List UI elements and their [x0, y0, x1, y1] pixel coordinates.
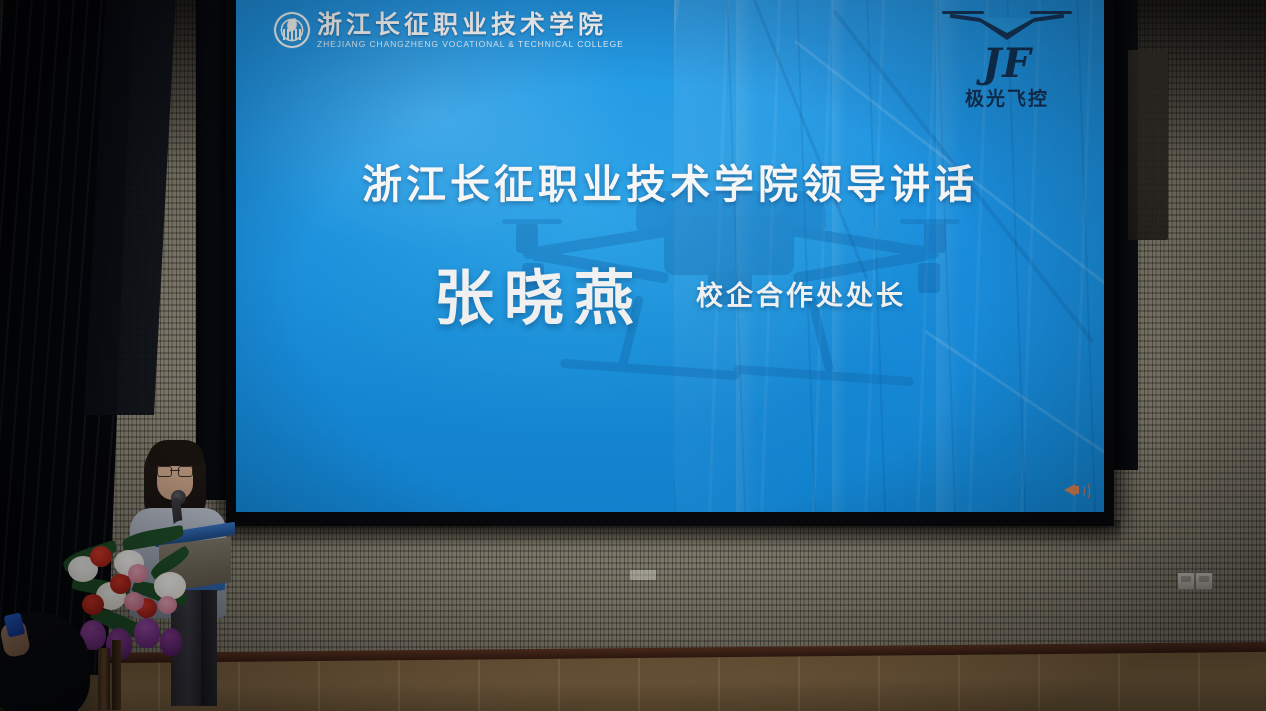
wall-switch-plate-right[interactable]: [1195, 572, 1213, 590]
college-logo: 浙江长征职业技术学院 ZHEJIANG CHANGZHENG VOCATIONA…: [274, 12, 624, 49]
company-logo: JF 极光飞控: [946, 8, 1068, 111]
flower-stand-leg: [112, 640, 121, 710]
speaker-info-row: 张晓燕 校企合作处处长: [236, 250, 1104, 337]
auditorium-scene: 浙江长征职业技术学院 ZHEJIANG CHANGZHENG VOCATIONA…: [0, 0, 1266, 711]
wall-panel-mark: [630, 570, 656, 580]
speaker-name: 张晓燕: [434, 250, 644, 337]
college-name-english: ZHEJIANG CHANGZHENG VOCATIONAL & TECHNIC…: [317, 40, 624, 49]
presenter-hair-fringe: [148, 440, 204, 466]
slide-title: 浙江长征职业技术学院领导讲话: [236, 152, 1104, 210]
podium-column-side: [201, 590, 217, 706]
company-initials: JF: [946, 46, 1068, 83]
college-emblem-icon: [274, 12, 310, 48]
loudspeaker-right: [1128, 50, 1168, 240]
wall-switch-plate-left[interactable]: [1177, 572, 1195, 590]
volume-icon[interactable]: [1064, 480, 1090, 500]
college-name-chinese: 浙江长征职业技术学院: [317, 12, 624, 37]
company-name-chinese: 极光飞控: [946, 84, 1068, 111]
flower-stand: [98, 648, 110, 710]
drone-icon: [946, 8, 1068, 46]
presenter-glasses: [157, 466, 193, 475]
presentation-slide[interactable]: 浙江长征职业技术学院 ZHEJIANG CHANGZHENG VOCATIONA…: [236, 0, 1104, 512]
speaker-role: 校企合作处处长: [696, 274, 906, 313]
